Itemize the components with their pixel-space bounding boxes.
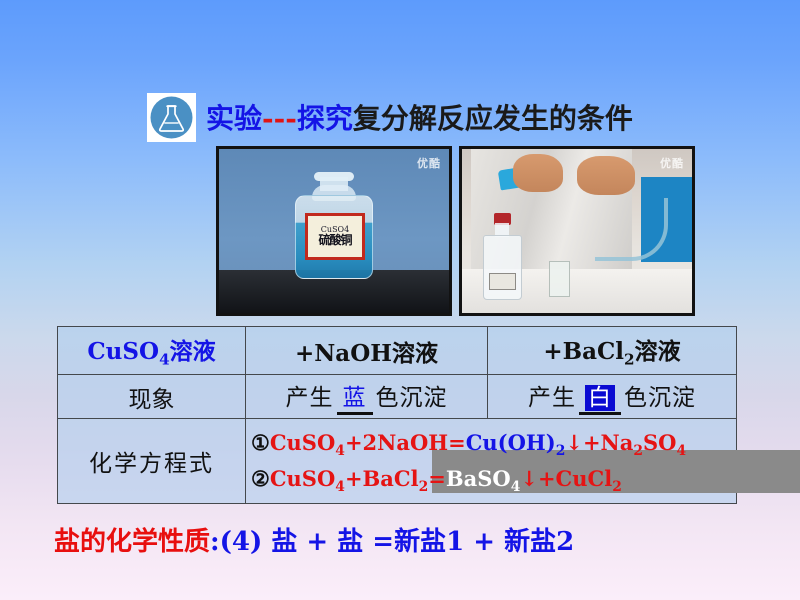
obs-c-answer: 白: [585, 385, 615, 411]
reagent-bottle: CuSO4 硫酸铜: [295, 175, 373, 279]
title-seg-3: 复分解反应发生的条件: [353, 102, 633, 135]
eq1-red-right-sub: 2: [633, 444, 643, 460]
table-row: 化学方程式 ①CuSO4+2NaOH=Cu(OH)2↓+Na2SO4 ②CuSO…: [58, 419, 737, 504]
bottle-body-right: [483, 235, 522, 300]
watermark-left: 优酷: [417, 155, 441, 171]
obs-b-blank: 蓝: [337, 378, 373, 415]
eq2-precipitate-arrow: ↓: [520, 466, 538, 491]
title-seg-2: 探究: [297, 102, 353, 135]
observation-label: 现象: [129, 387, 175, 413]
eq2-red-right: +CuCl: [538, 466, 612, 491]
cell-observation-bacl2: 产生白色沉淀: [488, 375, 737, 419]
eq2-inner: ②CuSO4+BaCl2=BaSO4↓+CuCl2: [251, 466, 622, 491]
eq1-marker: ①: [251, 430, 270, 455]
photo-cuso4-bottle: CuSO4 硫酸铜 优酷: [216, 146, 452, 316]
summary-blue-text: :(4) 盐 + 盐 =新盐1 + 新盐2: [210, 527, 574, 557]
cell-chemical-equations: ①CuSO4+2NaOH=Cu(OH)2↓+Na2SO4 ②CuSO4+BaCl…: [246, 419, 737, 504]
hdr-a-main: CuSO: [87, 338, 159, 365]
bottle-label: CuSO4 硫酸铜: [305, 213, 365, 260]
eq1-blue-sub: 2: [556, 444, 566, 460]
page-title: 实验---探究复分解反应发生的条件: [206, 97, 633, 137]
bottle-label-right: [489, 273, 516, 291]
photo-left-scene: CuSO4 硫酸铜: [219, 149, 449, 313]
cell-header-cuso4: CuSO4溶液: [58, 327, 246, 375]
left-hand: [513, 154, 564, 192]
small-vial: [549, 261, 570, 297]
reagent-bottle-right: [483, 215, 522, 300]
title-seg-1: 实验: [206, 102, 262, 135]
summary-red-label: 盐的化学性质: [54, 527, 210, 557]
hdr-c-main: +BaCl: [543, 338, 624, 365]
cell-header-bacl2: +BaCl2溶液: [488, 327, 737, 375]
eq2-red-mid: +BaCl: [345, 466, 419, 491]
obs-b-post: 色沉淀: [376, 385, 448, 411]
eq1-red-mid: +2NaOH=: [345, 430, 466, 455]
hdr-a-tail: 溶液: [170, 338, 216, 365]
photo-pouring-experiment: 优酷: [459, 146, 695, 316]
header-bacl2-text: +BaCl2溶液: [543, 338, 680, 365]
header-cuso4-text: CuSO4溶液: [87, 338, 215, 365]
hdr-c-tail: 溶液: [635, 338, 681, 365]
eq2-red-left: CuSO: [270, 466, 335, 491]
watermark-right: 优酷: [660, 155, 684, 171]
obs-c-blank: 白: [579, 378, 621, 415]
eq2-red-mid-sub: 2: [419, 479, 429, 495]
eq1-red-left: CuSO: [270, 430, 335, 455]
table-row: CuSO4溶液 +NaOH溶液 +BaCl2溶液: [58, 327, 737, 375]
eq2-white-part: BaSO: [446, 466, 511, 491]
bottle-label-name: 硫酸铜: [318, 234, 351, 247]
conical-flask-icon: [147, 93, 196, 142]
chemical-equation-2: ②CuSO4+BaCl2=BaSO4↓+CuCl2: [251, 468, 736, 495]
cell-label-observation: 现象: [58, 375, 246, 419]
slide-canvas: 实验---探究复分解反应发生的条件 CuSO4 硫酸铜 优酷: [0, 0, 800, 600]
title-seg-dash: ---: [262, 102, 297, 135]
photo-right-scene: [462, 149, 692, 313]
eq2-marker: ②: [251, 466, 270, 491]
header-naoh-text: +NaOH溶液: [295, 340, 438, 367]
hdr-a-sub: 4: [159, 351, 170, 369]
equation-label: 化学方程式: [89, 451, 214, 477]
eq1-red-right: +Na: [583, 430, 633, 455]
table-row: 现象 产生蓝色沉淀 产生白色沉淀: [58, 375, 737, 419]
eq1-blue-part: Cu(OH): [466, 430, 556, 455]
obs-b-pre: 产生: [286, 385, 334, 411]
obs-c-pre: 产生: [528, 385, 576, 411]
eq1-red-left-sub: 4: [335, 444, 345, 460]
eq2-red-left-sub: 4: [335, 479, 345, 495]
right-hand: [577, 156, 635, 195]
eq2-white-sub: 4: [511, 479, 521, 495]
cell-header-naoh: +NaOH溶液: [246, 327, 488, 375]
obs-b-answer: 蓝: [343, 385, 367, 411]
slide-title-row: 实验---探究复分解反应发生的条件: [147, 93, 633, 141]
cell-label-equation: 化学方程式: [58, 419, 246, 504]
cell-observation-naoh: 产生蓝色沉淀: [246, 375, 488, 419]
eq1-red-right-tail: SO: [643, 430, 676, 455]
obs-c-post: 色沉淀: [624, 385, 696, 411]
eq1-red-right-sub2: 4: [676, 444, 686, 460]
eq1-precipitate-arrow: ↓: [565, 430, 583, 455]
chemical-equation-1: ①CuSO4+2NaOH=Cu(OH)2↓+Na2SO4: [251, 432, 736, 459]
eq2-equals: =: [428, 466, 446, 491]
bottle-body: CuSO4 硫酸铜: [295, 195, 373, 279]
salt-property-summary: 盐的化学性质:(4) 盐 + 盐 =新盐1 + 新盐2: [54, 521, 574, 558]
hdr-c-sub: 2: [624, 351, 635, 369]
eq2-red-right-sub: 2: [612, 479, 622, 495]
experiment-results-table: CuSO4溶液 +NaOH溶液 +BaCl2溶液 现象 产生蓝色沉淀 产生白色沉…: [57, 326, 737, 504]
